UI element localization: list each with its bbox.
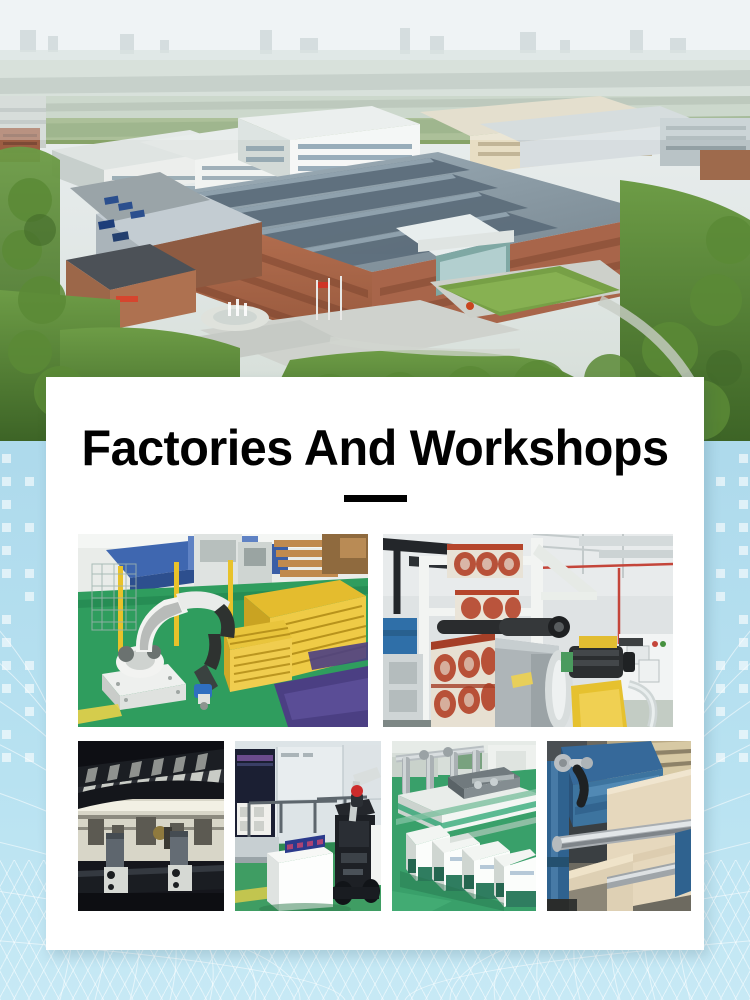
gallery-row-bottom: [78, 741, 672, 911]
photo-production-line[interactable]: [392, 741, 536, 911]
hero-image: [0, 0, 750, 441]
aerial-factory-campus-photo: [0, 0, 750, 441]
overhead-conveyor-illustration: [78, 741, 224, 911]
photo-agv-forklift[interactable]: [235, 741, 381, 911]
content-card: Factories And Workshops: [46, 377, 704, 950]
printing-machine-illustration: [383, 534, 673, 727]
photo-board-feeding[interactable]: [547, 741, 691, 911]
photo-gallery: [46, 534, 704, 911]
gallery-row-top: [78, 534, 672, 727]
photo-printing-machine[interactable]: [383, 534, 673, 727]
photo-robot-arm[interactable]: [78, 534, 368, 727]
board-feeding-illustration: [547, 741, 691, 911]
agv-forklift-illustration: [235, 741, 381, 911]
robot-arm-illustration: [78, 534, 368, 727]
production-line-illustration: [392, 741, 536, 911]
page-root: Factories And Workshops: [0, 0, 750, 1000]
title-divider: [344, 495, 407, 502]
page-title: Factories And Workshops: [56, 419, 694, 477]
photo-overhead-conveyor[interactable]: [78, 741, 224, 911]
